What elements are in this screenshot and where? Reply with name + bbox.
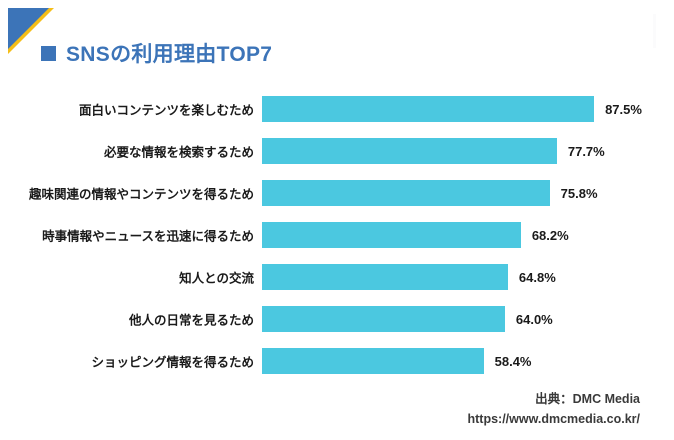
- bar-row: 他人の日常を見るため64.0%: [0, 298, 674, 340]
- bar-track: 87.5%: [262, 96, 642, 122]
- bar-track: 64.8%: [262, 264, 556, 290]
- bar-category-label: 必要な情報を検索するため: [104, 142, 254, 161]
- bar-fill[interactable]: [262, 96, 594, 122]
- bar-value-label: 87.5%: [605, 102, 642, 117]
- bar-row: 面白いコンテンツを楽しむため87.5%: [0, 88, 674, 130]
- bar-value-label: 64.0%: [516, 312, 553, 327]
- bar-value-label: 68.2%: [532, 228, 569, 243]
- bar-category-label: ショッピング情報を得るため: [91, 352, 254, 371]
- bar-row: 趣味関連の情報やコンテンツを得るため75.8%: [0, 172, 674, 214]
- footer-source-text: 出典：DMC Media: [468, 388, 641, 407]
- chart-title-text: SNSの利用理由TOP7: [66, 38, 272, 68]
- bar-category-label: 時事情報やニュースを迅速に得るため: [42, 226, 254, 245]
- bar-track: 64.0%: [262, 306, 553, 332]
- edge-tick-mark: [653, 14, 656, 48]
- bar-fill[interactable]: [262, 222, 521, 248]
- bar-track: 58.4%: [262, 348, 532, 374]
- bar-row: ショッピング情報を得るため58.4%: [0, 340, 674, 382]
- bar-fill[interactable]: [262, 180, 550, 206]
- bar-chart: 面白いコンテンツを楽しむため87.5%必要な情報を検索するため77.7%趣味関連…: [0, 88, 674, 382]
- bar-value-label: 58.4%: [495, 354, 532, 369]
- bar-fill[interactable]: [262, 348, 484, 374]
- bar-category-label: 他人の日常を見るため: [129, 310, 254, 329]
- bar-category-label: 面白いコンテンツを楽しむため: [79, 100, 254, 119]
- footer-url-text[interactable]: https://www.dmcmedia.co.kr/: [468, 412, 641, 426]
- bar-track: 68.2%: [262, 222, 569, 248]
- square-bullet-icon: [41, 46, 56, 61]
- bar-row: 知人との交流64.8%: [0, 256, 674, 298]
- chart-title: SNSの利用理由TOP7: [41, 38, 272, 68]
- bar-row: 必要な情報を検索するため77.7%: [0, 130, 674, 172]
- bar-fill[interactable]: [262, 306, 505, 332]
- bar-category-label: 趣味関連の情報やコンテンツを得るため: [29, 184, 254, 203]
- bar-track: 75.8%: [262, 180, 598, 206]
- bar-track: 77.7%: [262, 138, 605, 164]
- bar-fill[interactable]: [262, 138, 557, 164]
- bar-value-label: 75.8%: [561, 186, 598, 201]
- bar-value-label: 77.7%: [568, 144, 605, 159]
- chart-footer: 出典：DMC Media https://www.dmcmedia.co.kr/: [468, 388, 641, 426]
- bar-fill[interactable]: [262, 264, 508, 290]
- bar-row: 時事情報やニュースを迅速に得るため68.2%: [0, 214, 674, 256]
- bar-category-label: 知人との交流: [179, 268, 254, 287]
- bar-value-label: 64.8%: [519, 270, 556, 285]
- chart-page: SNSの利用理由TOP7 面白いコンテンツを楽しむため87.5%必要な情報を検索…: [0, 0, 674, 440]
